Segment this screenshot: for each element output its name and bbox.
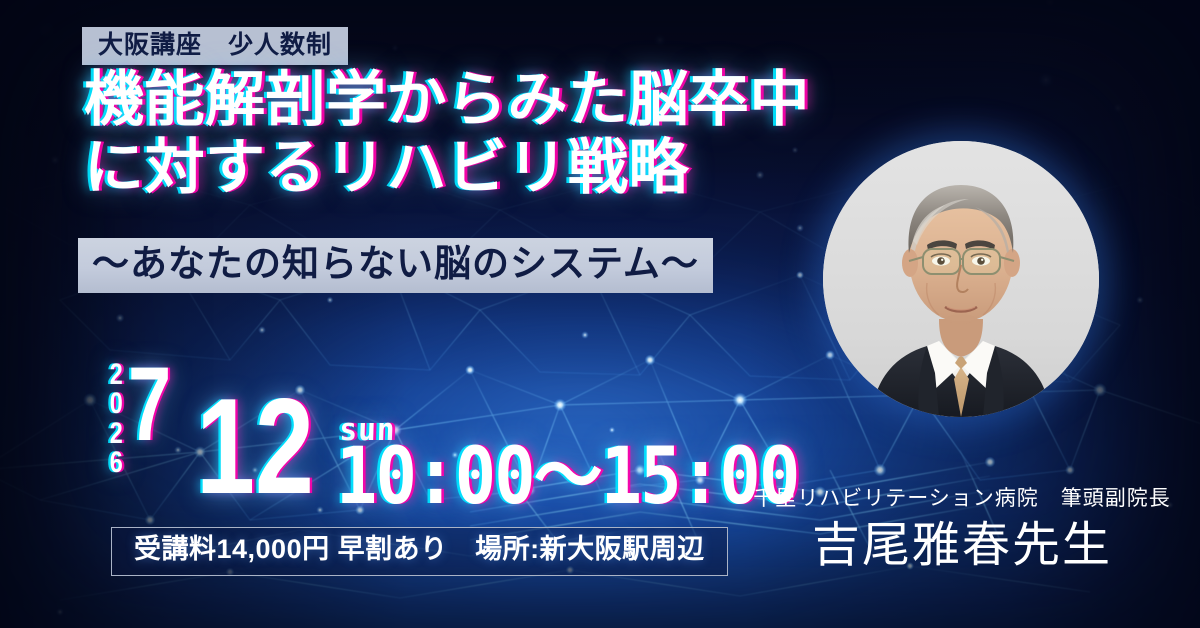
year-digit-1: 2	[103, 360, 130, 389]
year-digit-2: 0	[103, 389, 130, 418]
page-title: 機能解剖学からみた脳卒中 に対するリハビリ戦略	[84, 66, 810, 203]
event-time-range: 10:00〜15:00	[336, 438, 799, 516]
year-digit-4: 6	[103, 448, 130, 477]
seminar-banner: 大阪講座 少人数制 機能解剖学からみた脳卒中 に対するリハビリ戦略 〜あなたの知…	[0, 0, 1200, 628]
speaker-affiliation: 千里リハビリテーション病院 筆頭副院長	[742, 487, 1182, 510]
speaker-name: 吉尾雅春先生	[742, 519, 1182, 573]
portrait-illustration	[823, 141, 1099, 417]
course-badge: 大阪講座 少人数制	[82, 27, 348, 65]
year-digit-3: 2	[103, 419, 130, 448]
fee-and-venue-bar: 受講料14,000円 早割あり 場所:新大阪駅周辺	[111, 527, 728, 576]
subtitle-bar: 〜あなたの知らない脳のシステム〜	[78, 238, 713, 293]
event-year: 2 0 2 6	[103, 360, 130, 478]
speaker-portrait	[823, 141, 1099, 417]
event-month: 7	[128, 352, 171, 457]
event-day: 12	[196, 378, 314, 514]
